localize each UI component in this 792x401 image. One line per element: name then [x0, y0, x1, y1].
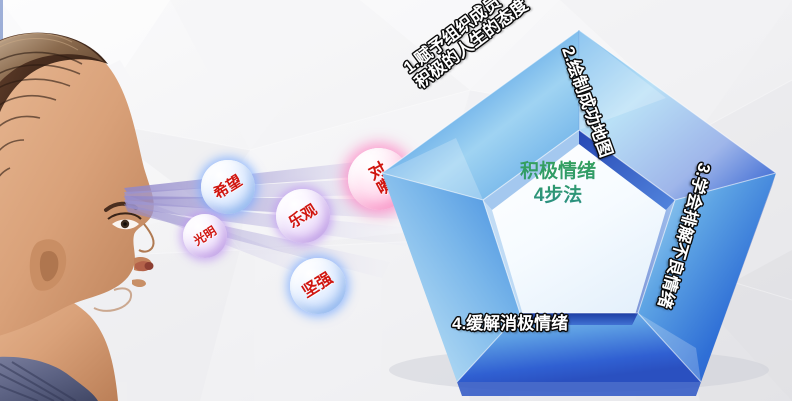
- bubble-label: 乐观: [286, 202, 319, 231]
- bubble-hope[interactable]: 希望: [201, 160, 255, 214]
- center-title-line1: 积极情绪: [494, 160, 622, 184]
- step4-line1: 4.缓解消极情绪: [452, 314, 568, 333]
- center-title-line2: 4步法: [494, 184, 622, 208]
- bubble-strength[interactable]: 坚强: [290, 258, 346, 314]
- slide-canvas: 希望 光明 乐观 坚强 对嘴: [0, 0, 792, 401]
- pentagon-label-step-4: 4.缓解消极情绪: [452, 314, 568, 333]
- center-title: 积极情绪 4步法: [494, 160, 622, 208]
- bubble-label: 光明: [192, 225, 219, 248]
- bubble-label: 希望: [211, 173, 244, 202]
- bubble-label: 坚强: [300, 271, 336, 302]
- bubble-optimism[interactable]: 乐观: [276, 189, 330, 243]
- bubble-brightness[interactable]: 光明: [183, 214, 227, 258]
